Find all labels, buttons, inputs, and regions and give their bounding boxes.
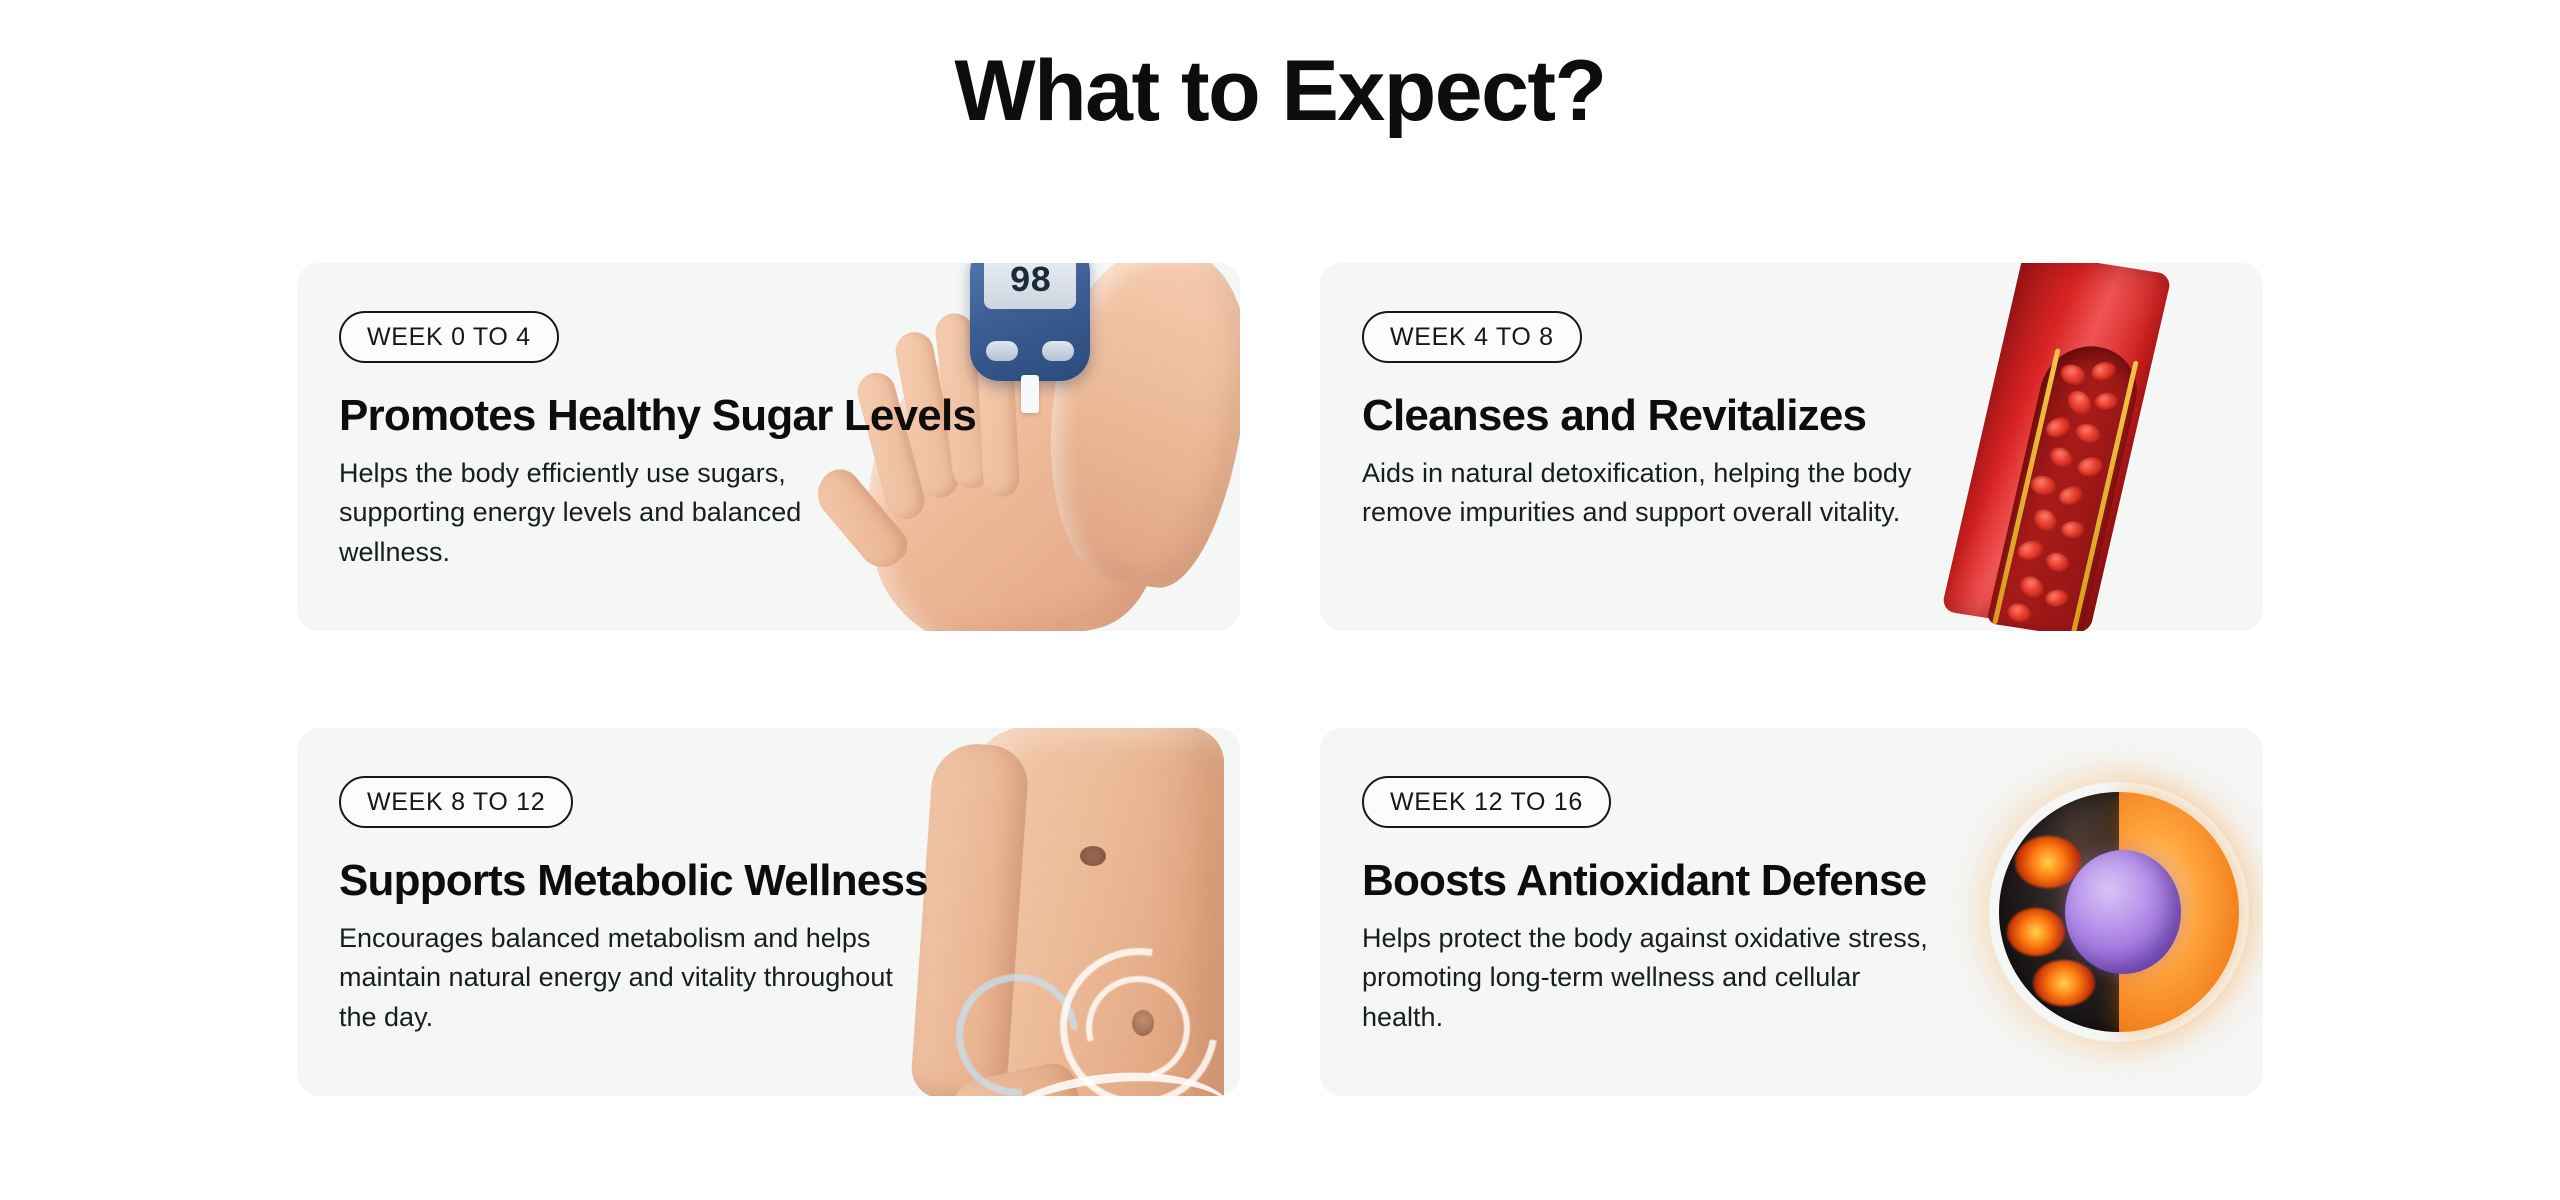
- week-badge: WEEK 0 TO 4: [339, 311, 559, 363]
- torso-detail: [1080, 846, 1106, 866]
- red-blood-cell: [2043, 413, 2074, 440]
- vessel-lining-left: [1992, 348, 2061, 624]
- red-blood-cell: [2030, 505, 2061, 536]
- week-badge: WEEK 4 TO 8: [1362, 311, 1582, 363]
- card-title: Boosts Antioxidant Defense: [1362, 857, 1940, 905]
- red-blood-cell: [2094, 393, 2119, 410]
- card-title: Promotes Healthy Sugar Levels: [339, 392, 917, 440]
- glucometer-display: 98: [984, 263, 1076, 309]
- red-blood-cell: [2090, 360, 2117, 383]
- vessel-lumen: [1986, 339, 2146, 631]
- oxidative-crack: [2007, 908, 2065, 956]
- card-description: Encourages balanced metabolism and helps…: [339, 919, 917, 1038]
- cell-oxidized-half: [1999, 792, 2119, 1032]
- cell-nucleus: [2065, 850, 2181, 974]
- metabolism-swirl-arrow: [931, 949, 1103, 1096]
- vessel-lining-right: [2070, 361, 2139, 631]
- metabolism-swirl-band: [980, 1061, 1234, 1096]
- card-title: Supports Metabolic Wellness: [339, 857, 917, 905]
- cell-glow: [1989, 782, 2249, 1042]
- red-blood-cell: [2060, 521, 2085, 539]
- card-content: WEEK 0 TO 4 Promotes Healthy Sugar Level…: [297, 263, 917, 573]
- what-to-expect-section: What to Expect? 98 WEEK 0 TO 4: [0, 0, 2560, 1200]
- red-blood-cell: [2057, 361, 2089, 389]
- card-content: WEEK 12 TO 16 Boosts Antioxidant Defense…: [1320, 728, 1940, 1038]
- upper-hand: [1032, 263, 1240, 595]
- week-badge: WEEK 8 TO 12: [339, 776, 573, 828]
- oxidative-crack: [2033, 960, 2095, 1006]
- metabolism-swirl-arrow: [1029, 917, 1240, 1096]
- red-blood-cell: [2072, 420, 2104, 446]
- arm: [910, 741, 1031, 1096]
- oxidative-crack: [2015, 836, 2081, 888]
- red-blood-cell: [2057, 483, 2086, 508]
- page-title: What to Expect?: [0, 48, 2560, 134]
- finger: [976, 332, 1021, 498]
- vessel-wall: [1941, 263, 2172, 631]
- red-blood-cell: [2046, 443, 2076, 471]
- glucometer-device: 98: [970, 263, 1090, 381]
- red-blood-cell: [2004, 600, 2033, 625]
- card-content: WEEK 8 TO 12 Supports Metabolic Wellness…: [297, 728, 917, 1038]
- red-blood-cell: [2016, 572, 2048, 602]
- red-blood-cell: [2016, 539, 2045, 562]
- blood-vessel-cutaway-image: [2005, 263, 2235, 631]
- card-description: Helps protect the body against oxidative…: [1362, 919, 1940, 1038]
- male-torso-metabolism-image: [920, 728, 1240, 1096]
- split-cell-antioxidant-image: [1999, 792, 2239, 1032]
- metabolism-swirl-arrow: [1067, 957, 1209, 1096]
- red-blood-cell: [2045, 589, 2069, 608]
- card-title: Cleanses and Revitalizes: [1362, 392, 1940, 440]
- card-description: Aids in natural detoxification, helping …: [1362, 454, 1940, 533]
- benefit-card-week-4-to-8[interactable]: WEEK 4 TO 8 Cleanses and Revitalizes Aid…: [1320, 263, 2263, 631]
- benefit-card-week-12-to-16[interactable]: WEEK 12 TO 16 Boosts Antioxidant Defense…: [1320, 728, 2263, 1096]
- glucometer-test-strip: [1021, 375, 1039, 413]
- red-blood-cell: [2063, 386, 2096, 419]
- card-content: WEEK 4 TO 8 Cleanses and Revitalizes Aid…: [1320, 263, 1940, 533]
- benefit-card-week-8-to-12[interactable]: WEEK 8 TO 12 Supports Metabolic Wellness…: [297, 728, 1240, 1096]
- red-blood-cell: [2028, 473, 2059, 499]
- glucometer-button-left: [986, 341, 1018, 361]
- card-description: Helps the body efficiently use sugars, s…: [339, 454, 917, 573]
- red-blood-cell: [2042, 549, 2072, 575]
- cell-healthy-half: [2119, 792, 2239, 1032]
- hand-on-hip: [944, 1059, 1087, 1096]
- glucometer-button-right: [1042, 341, 1074, 361]
- torso: [974, 728, 1224, 1096]
- benefit-cards-grid: 98 WEEK 0 TO 4 Promotes Healthy Sugar Le…: [297, 263, 2263, 1096]
- navel: [1132, 1010, 1154, 1036]
- benefit-card-week-0-to-4[interactable]: 98 WEEK 0 TO 4 Promotes Healthy Sugar Le…: [297, 263, 1240, 631]
- week-badge: WEEK 12 TO 16: [1362, 776, 1611, 828]
- red-blood-cell: [2077, 455, 2104, 477]
